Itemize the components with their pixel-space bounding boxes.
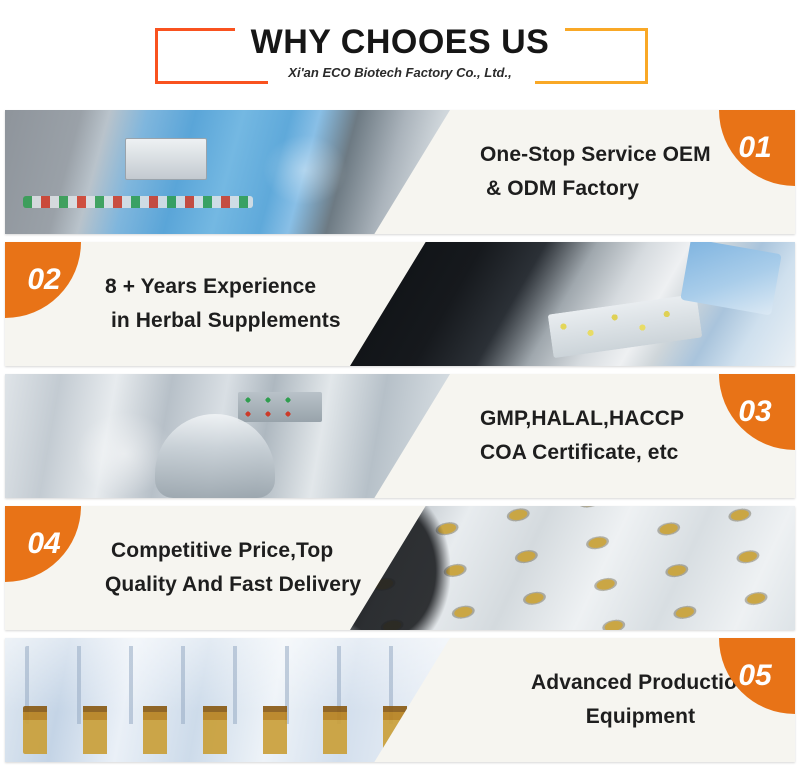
feature-line-2: Quality And Fast Delivery xyxy=(105,568,405,602)
feature-image-amber-bottle-filling-line xyxy=(5,638,450,762)
page-header: WHY CHOOES US Xi'an ECO Biotech Factory … xyxy=(0,0,800,110)
feature-image-encapsulation-machine-softgel-inspection xyxy=(350,242,795,366)
feature-line-2: COA Certificate, etc xyxy=(480,436,795,470)
feature-line-2: Equipment xyxy=(486,700,795,734)
feature-line-1: Competitive Price,Top xyxy=(105,534,405,568)
feature-row: Competitive Price,Top Quality And Fast D… xyxy=(5,506,795,630)
feature-image-stainless-steel-mixing-tanks xyxy=(5,374,450,498)
feature-row: One-Stop Service OEM & ODM Factory 01 xyxy=(5,110,795,234)
feature-line-2: & ODM Factory xyxy=(480,172,795,206)
feature-list: One-Stop Service OEM & ODM Factory 01 8 … xyxy=(0,110,800,762)
company-subtitle: Xi'an ECO Biotech Factory Co., Ltd., xyxy=(278,64,521,82)
feature-row: 8 + Years Experience in Herbal Supplemen… xyxy=(5,242,795,366)
page-title: WHY CHOOES US xyxy=(235,22,566,62)
feature-row: Advanced Production Equipment 05 xyxy=(5,638,795,762)
feature-line-2: in Herbal Supplements xyxy=(105,304,405,338)
feature-line-1: 8 + Years Experience xyxy=(105,270,405,304)
feature-image-capsule-filling-machine-closeup xyxy=(350,506,795,630)
feature-row: GMP,HALAL,HACCP COA Certificate, etc 03 xyxy=(5,374,795,498)
feature-image-cleanroom-operators-control-panel xyxy=(5,110,450,234)
